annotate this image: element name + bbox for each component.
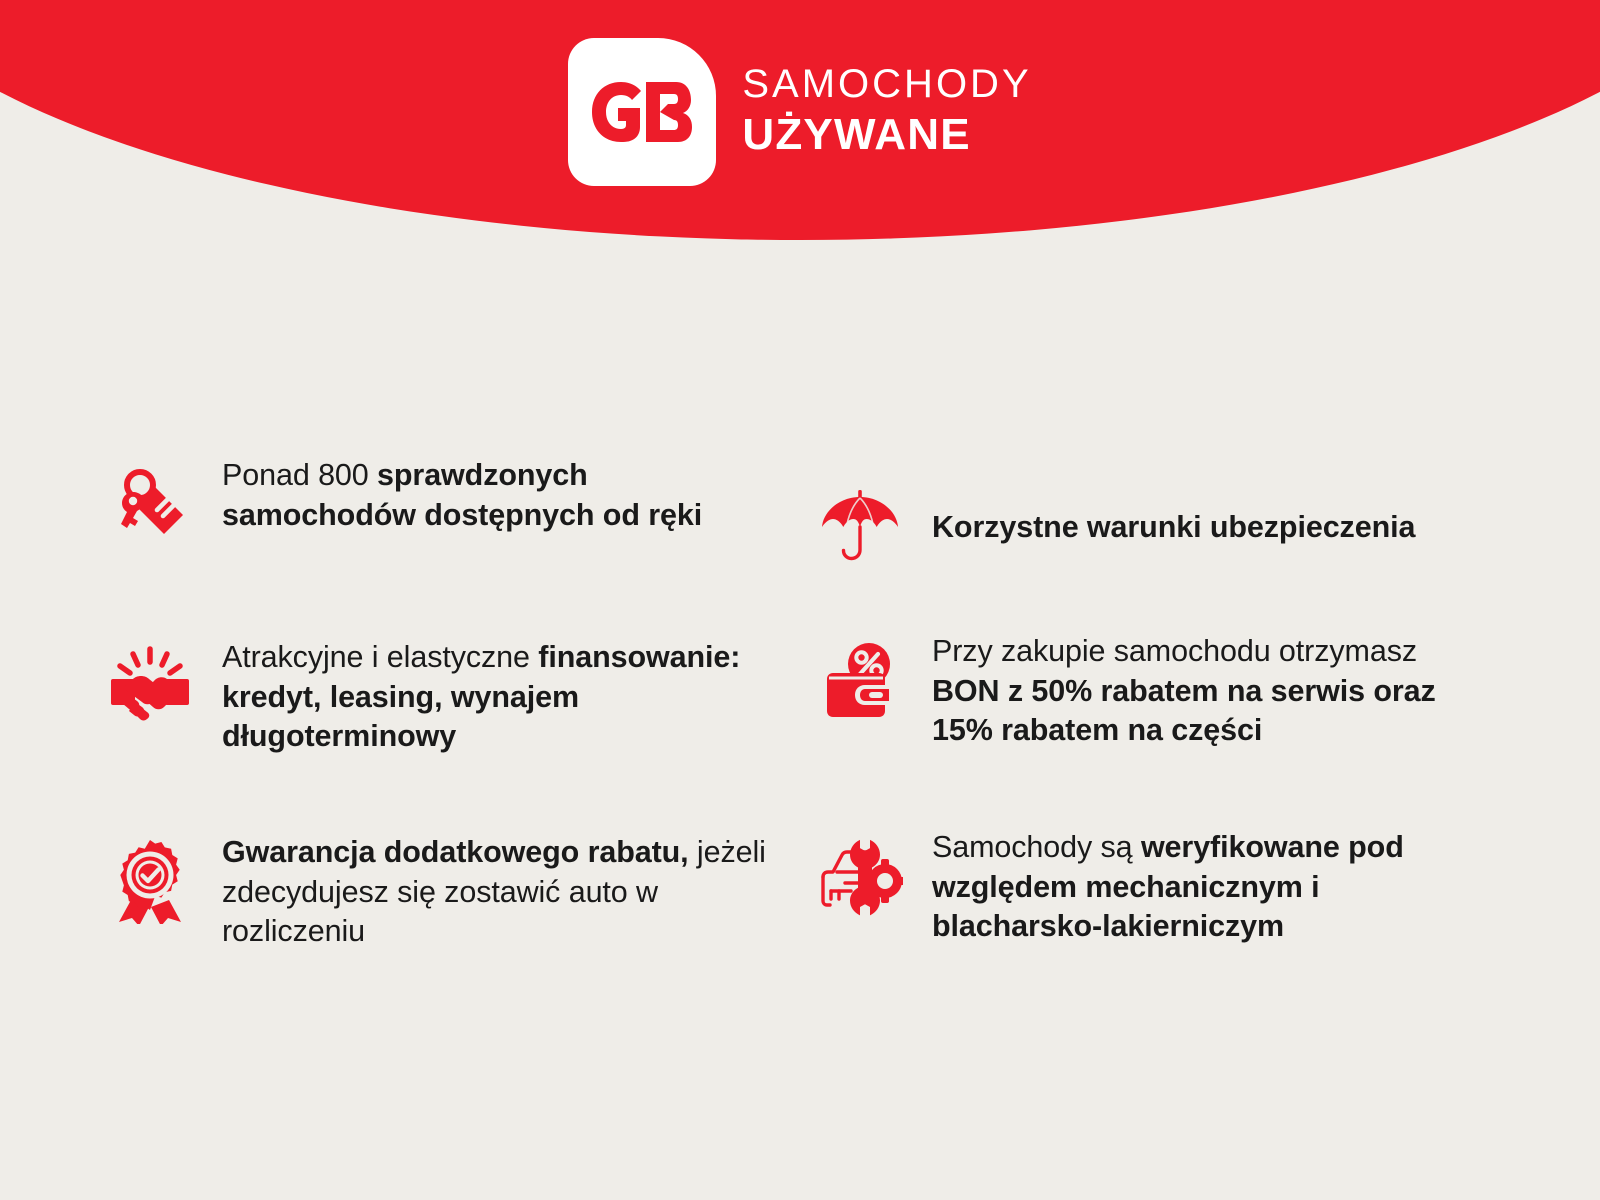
feature-item-tradein-discount: Gwarancja dodatkowego rabatu, jeżeli zde… (104, 829, 814, 952)
feature-text-part-regular: Atrakcyjne i elastyczne (222, 640, 538, 674)
award-badge-icon (104, 835, 196, 927)
feature-text-part-regular: Przy zakupie samochodu otrzymasz (932, 634, 1417, 668)
feature-text-verification: Samochody są weryfikowane pod względem m… (932, 824, 1492, 947)
feature-text-part-bold: Gwarancja dodatkowego rabatu, (222, 835, 689, 869)
feature-item-insurance: Korzystne warunki ubezpieczenia (814, 440, 1514, 612)
feature-item-verification: Samochody są weryfikowane pod względem m… (814, 824, 1514, 947)
handshake-icon (104, 640, 196, 732)
feature-text-insurance: Korzystne warunki ubezpieczenia (932, 504, 1415, 548)
feature-text-part-bold: BON z 50% rabatem na serwis oraz 15% rab… (932, 674, 1436, 748)
wordmark-line-uzywane: UŻYWANE (742, 113, 1031, 157)
wordmark-line-samochody: SAMOCHODY (742, 64, 1031, 104)
feature-text-inventory: Ponad 800 sprawdzonych samochodów dostęp… (222, 452, 782, 535)
feature-item-financing: Atrakcyjne i elastyczne finansowanie: kr… (104, 634, 814, 829)
umbrella-icon (814, 480, 906, 572)
feature-item-voucher: Przy zakupie samochodu otrzymasz BON z 5… (814, 628, 1514, 824)
car-key-icon (104, 458, 196, 550)
feature-text-part-regular: Ponad 800 (222, 458, 377, 492)
car-wrench-gear-icon (814, 830, 906, 922)
feature-text-voucher: Przy zakupie samochodu otrzymasz BON z 5… (932, 628, 1492, 751)
features-grid: Ponad 800 sprawdzonych samochodów dostęp… (0, 430, 1600, 952)
wallet-percent-icon (814, 634, 906, 726)
brand-wordmark: SAMOCHODY UŻYWANE (742, 64, 1031, 161)
gb-monogram-icon (590, 81, 694, 143)
gb-logo-mark (568, 38, 716, 186)
feature-text-tradein-discount: Gwarancja dodatkowego rabatu, jeżeli zde… (222, 829, 782, 952)
feature-item-inventory: Ponad 800 sprawdzonych samochodów dostęp… (104, 452, 814, 612)
feature-text-part-regular: Samochody są (932, 830, 1141, 864)
feature-text-part-bold: Korzystne warunki ubezpieczenia (932, 510, 1415, 544)
brand-logo-lockup: SAMOCHODY UŻYWANE (0, 38, 1600, 186)
feature-text-financing: Atrakcyjne i elastyczne finansowanie: kr… (222, 634, 782, 757)
features-column-left: Ponad 800 sprawdzonych samochodów dostęp… (104, 430, 814, 952)
features-column-right: Korzystne warunki ubezpieczenia (814, 430, 1514, 952)
